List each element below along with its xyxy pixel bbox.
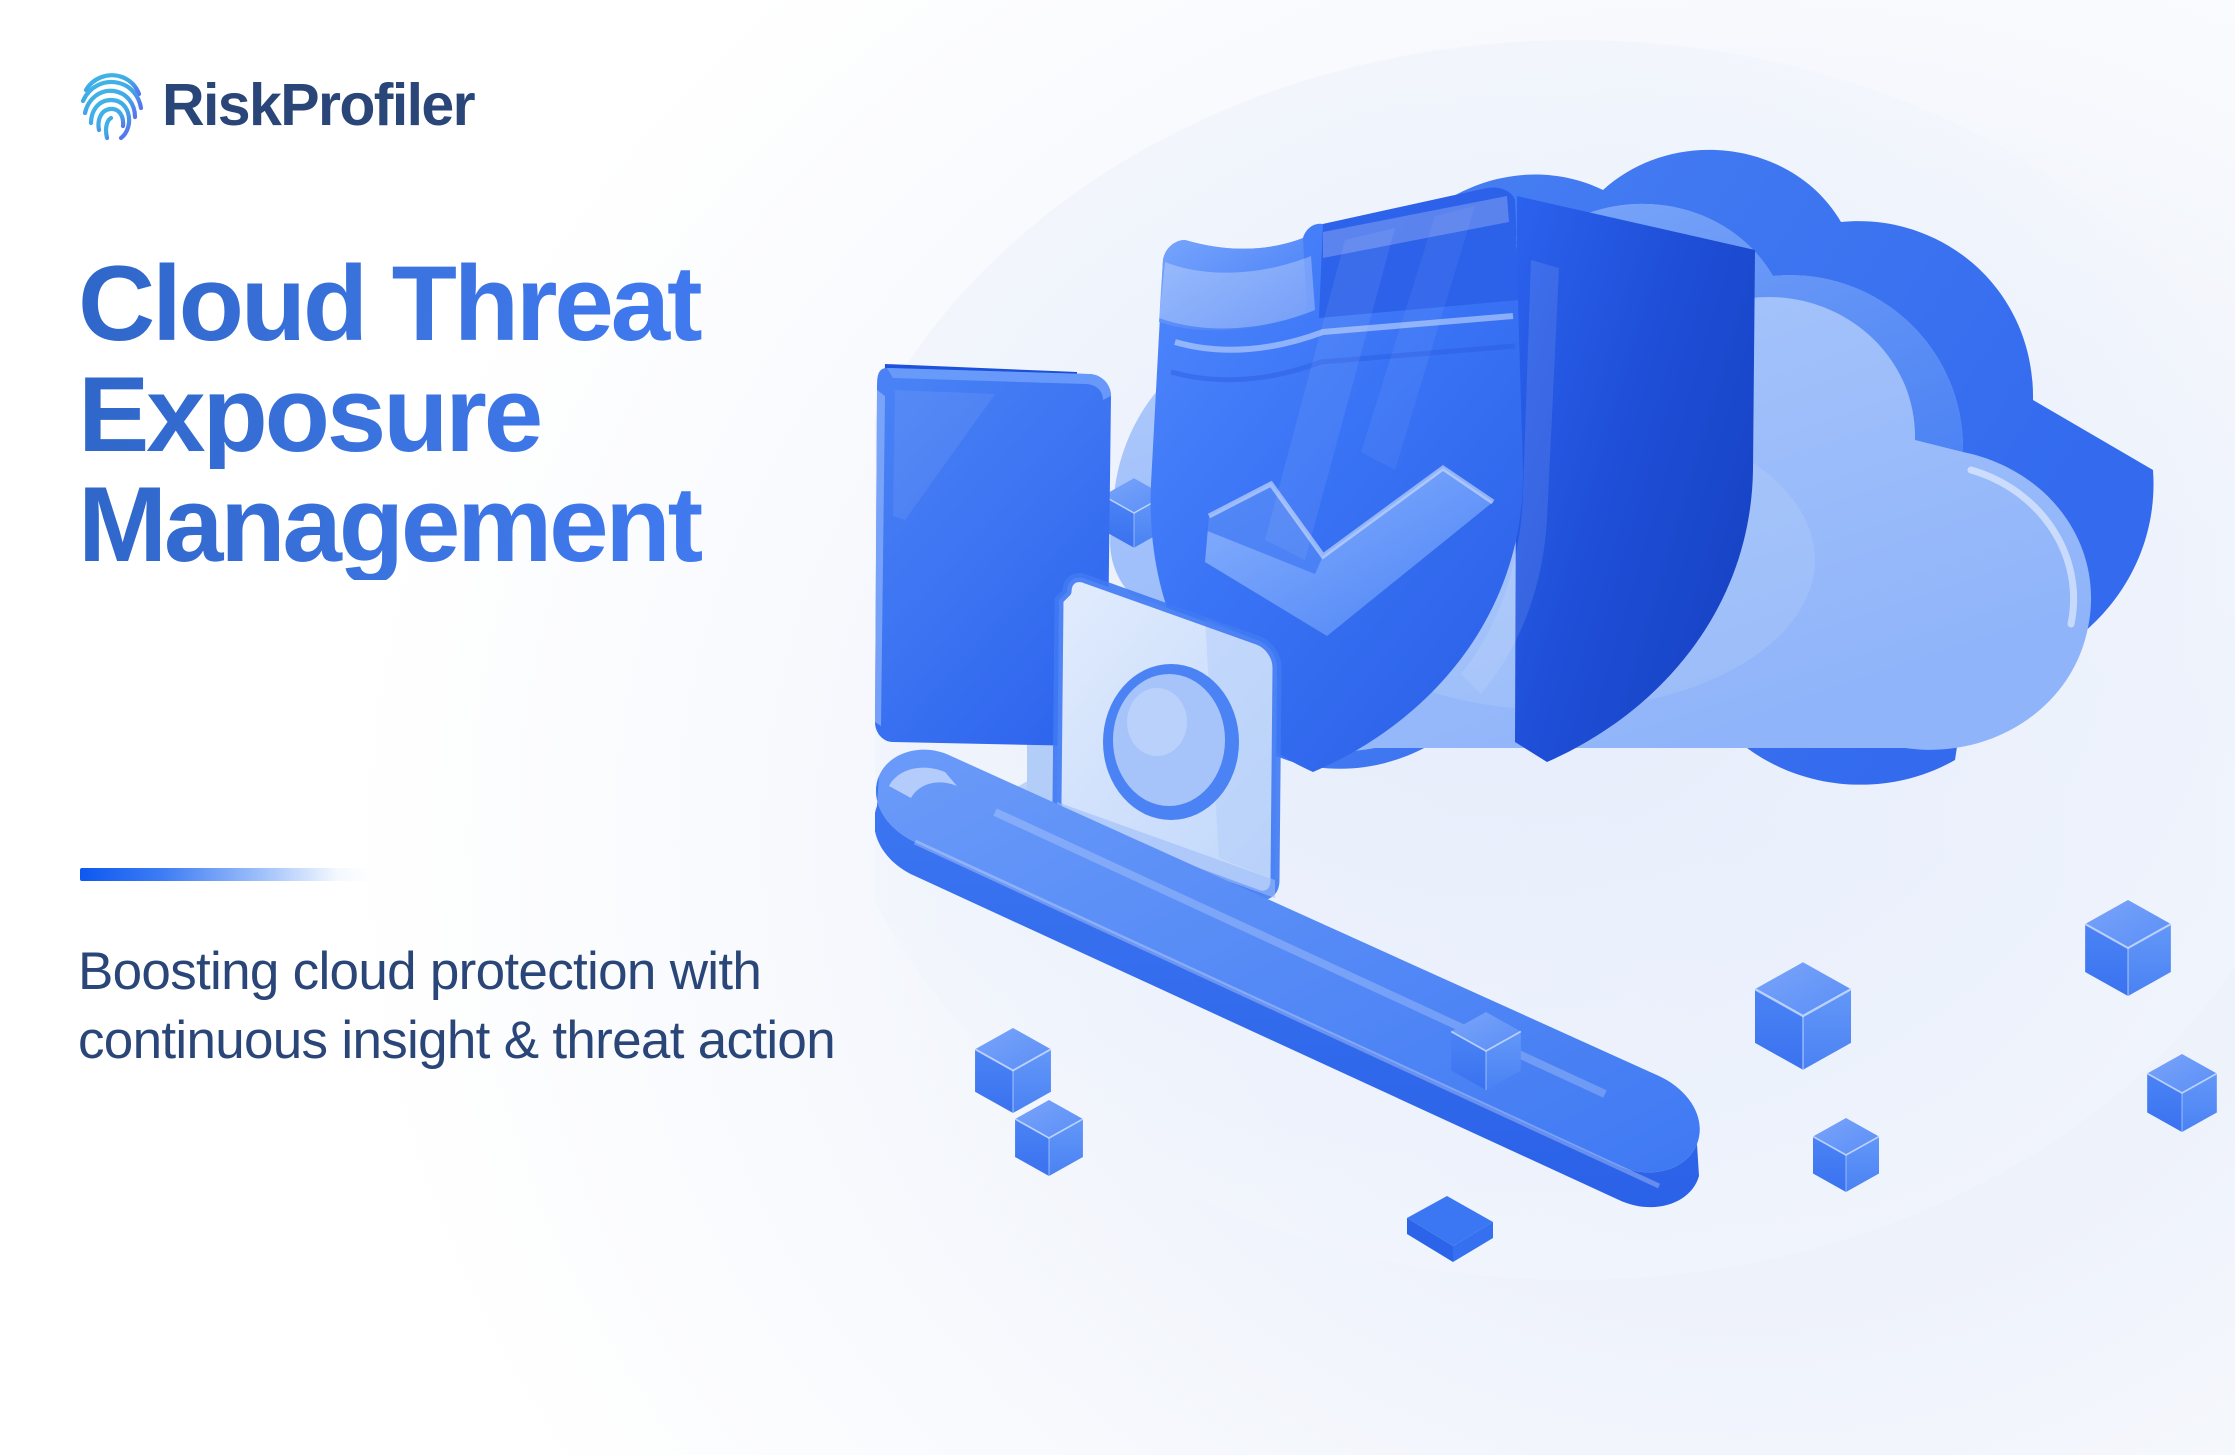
gradient-divider xyxy=(80,868,372,881)
fingerprint-icon xyxy=(78,68,144,142)
subtitle-line-1: Boosting cloud protection with xyxy=(78,938,978,1007)
headline-line-1: Cloud Threat xyxy=(78,248,1028,359)
headline-line-2: Exposure xyxy=(78,359,1028,470)
headline-line-3: Management xyxy=(78,469,1028,580)
brand-name: RiskProfiler xyxy=(162,76,474,135)
brand-logo: RiskProfiler xyxy=(78,68,474,142)
page-title: Cloud Threat Exposure Management xyxy=(78,248,1028,580)
hero-content: RiskProfiler Cloud Threat Exposure Manag… xyxy=(78,0,1088,1455)
subtitle-line-2: continuous insight & threat action xyxy=(78,1007,978,1076)
cube-3d-icon xyxy=(2147,1054,2217,1132)
page-subtitle: Boosting cloud protection with continuou… xyxy=(78,938,978,1076)
